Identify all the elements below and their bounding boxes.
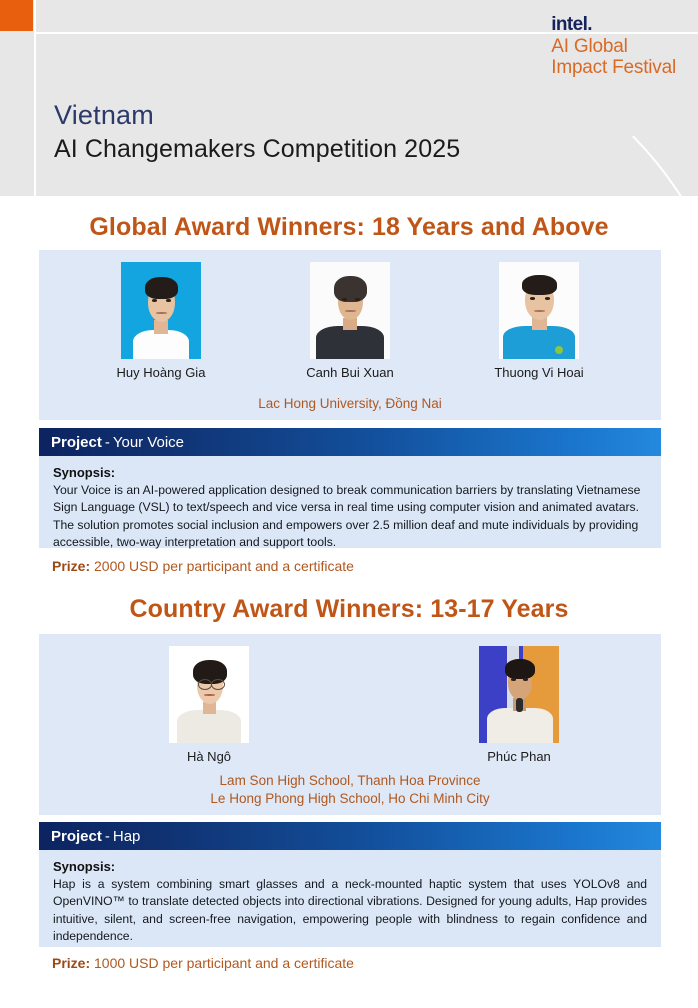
intel-wordmark: intel. [551,14,676,36]
synopsis-box-global: Synopsis: Your Voice is an AI-powered ap… [39,456,661,548]
project-name: Your Voice [113,434,184,451]
winner-name: Phúc Phan [459,749,579,764]
intel-ai-global-impact-festival-logo: intel. AI Global Impact Festival [551,14,676,79]
section-heading-country: Country Award Winners: 13-17 Years [0,595,698,624]
synopsis-text: Your Voice is an AI-powered application … [53,482,647,551]
intel-wordmark-dot: . [587,14,592,35]
logo-line-1: AI Global [551,36,676,58]
prize-value: 1000 USD per participant and a certifica… [94,955,354,971]
winner-photo [479,646,559,743]
prize-line-global: Prize: 2000 USD per participant and a ce… [52,558,354,574]
synopsis-label: Synopsis: [53,465,647,480]
project-name: Hap [113,828,141,845]
header-title-block: Vietnam AI Changemakers Competition 2025 [54,100,460,164]
synopsis-text: Hap is a system combining smart glasses … [53,876,647,945]
winner-name: Hà Ngô [149,749,269,764]
synopsis-box-country: Synopsis: Hap is a system combining smar… [39,850,661,947]
prize-line-country: Prize: 1000 USD per participant and a ce… [52,955,354,971]
synopsis-label: Synopsis: [53,859,647,874]
orange-accent-square [0,0,33,31]
winner-card: Huy Hoàng Gia [101,262,221,380]
page-subtitle: AI Changemakers Competition 2025 [54,134,460,164]
project-separator: - [105,434,110,451]
section-heading-global: Global Award Winners: 18 Years and Above [0,213,698,242]
project-banner-global: Project-Your Voice [39,428,661,456]
project-label: Project [51,828,102,845]
winner-card: Canh Bui Xuan [290,262,410,380]
intel-wordmark-text: intel [551,14,587,35]
logo-line-2: Impact Festival [551,57,676,79]
affiliation-line: Le Hong Phong High School, Ho Chi Minh C… [39,790,661,808]
winner-card: Phúc Phan [459,646,579,764]
winner-card: Hà Ngô [149,646,269,764]
affiliation-line: Lam Son High School, Thanh Hoa Province [39,772,661,790]
prize-label: Prize: [52,558,90,574]
winner-card: Thuong Vi Hoai [479,262,599,380]
page-header: intel. AI Global Impact Festival Vietnam… [0,0,698,196]
project-separator: - [105,828,110,845]
page-title-country: Vietnam [54,100,460,132]
winner-photo [121,262,201,359]
affiliation-line: Lac Hong University, Đồng Nai [39,395,661,413]
winners-panel-global: Huy Hoàng Gia Canh Bui Xuan Thuong Vi [39,250,661,420]
header-vertical-rule [34,0,36,196]
winner-name: Canh Bui Xuan [290,365,410,380]
prize-label: Prize: [52,955,90,971]
winner-name: Thuong Vi Hoai [479,365,599,380]
winner-photo [169,646,249,743]
winner-photo [499,262,579,359]
winner-photo [310,262,390,359]
winners-panel-country: Hà Ngô Phúc Phan Lam Son High School, Th… [39,634,661,815]
prize-value: 2000 USD per participant and a certifica… [94,558,354,574]
project-banner-country: Project-Hap [39,822,661,850]
project-label: Project [51,434,102,451]
winner-name: Huy Hoàng Gia [101,365,221,380]
